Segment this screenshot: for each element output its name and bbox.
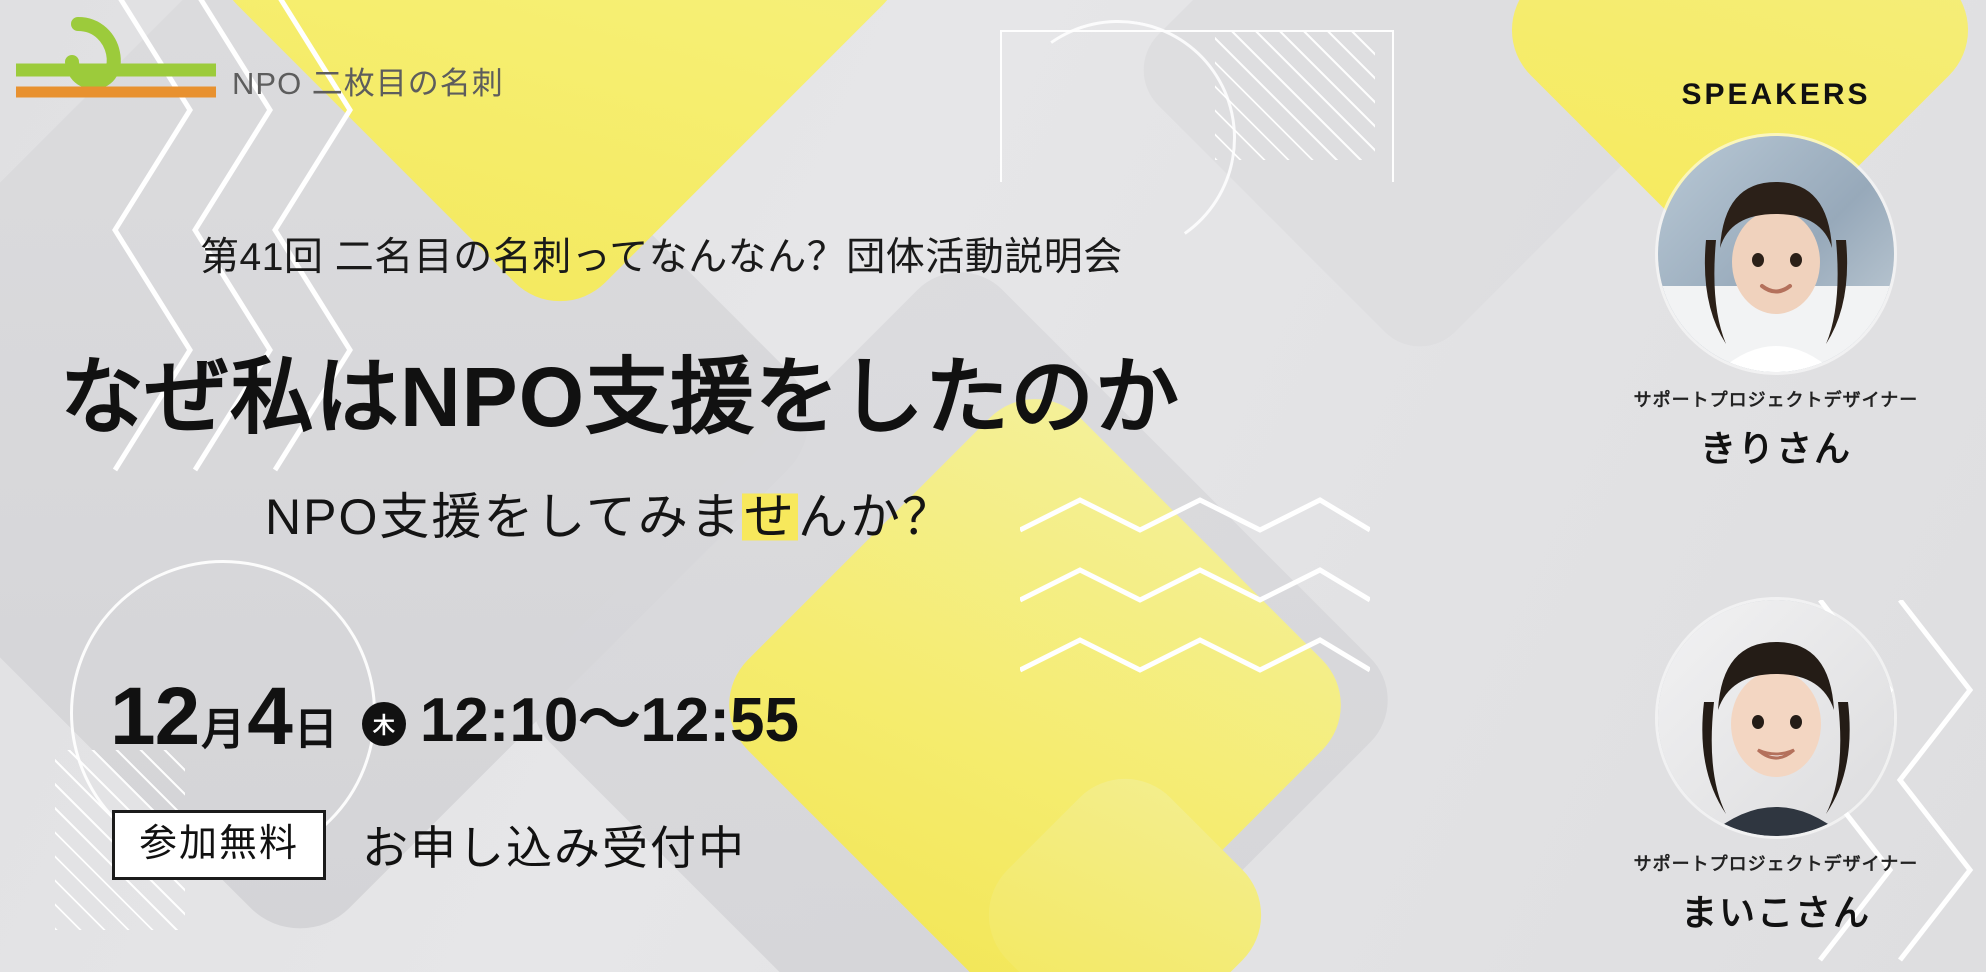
speaker-avatar (1658, 600, 1894, 836)
event-day-number: 4 (247, 678, 292, 756)
free-admission-badge: 参加無料 (112, 810, 326, 880)
tagline-part-2: んか？ (798, 489, 954, 545)
cta-row: 参加無料 お申し込み受付中 (112, 810, 746, 880)
event-banner: NPO 二枚目の名刺 第41回 二名目の名刺ってなんなん？団体活動説明会 なぜ私… (0, 0, 1986, 972)
npo-logo (8, 14, 218, 100)
npo-wave-logo-icon (8, 14, 218, 100)
zigzag-lines-center (1020, 490, 1370, 710)
speakers-panel: SPEAKERS (1566, 0, 1986, 972)
event-month-number: 12 (110, 678, 199, 756)
brand-name: NPO 二枚目の名刺 (232, 58, 504, 103)
speaker-role: サポートプロジェクトデザイナー (1566, 386, 1986, 412)
tagline: NPO支援をしてみませんか？ (265, 477, 954, 549)
speaker-portrait (1658, 136, 1894, 372)
event-time: 12:10〜12:55 (420, 690, 799, 752)
speaker-name: まいこさん (1566, 884, 1986, 936)
speaker-card: サポートプロジェクトデザイナー まいこさん (1566, 600, 1986, 936)
tagline-highlight: せ (742, 489, 798, 545)
series-title: 第41回 二名目の名刺ってなんなん？団体活動説明会 (200, 226, 1123, 282)
registration-status: お申し込み受付中 (362, 812, 746, 878)
page-title: なぜ私はNPO支援をしたのか (60, 330, 1180, 451)
speaker-portrait (1658, 600, 1894, 836)
speaker-name: きりさん (1566, 420, 1986, 472)
event-day-unit: 日 (294, 708, 338, 752)
event-month-unit: 月 (201, 708, 245, 752)
event-weekday-badge: 木 (362, 702, 406, 746)
tagline-part-1: NPO支援をしてみま (265, 489, 742, 545)
event-datetime: 12 月 4 日 木 12:10〜12:55 (110, 678, 799, 756)
speaker-role: サポートプロジェクトデザイナー (1566, 850, 1986, 876)
speakers-heading: SPEAKERS (1566, 78, 1986, 112)
speaker-avatar (1658, 136, 1894, 372)
hatched-square-decoration (1215, 30, 1375, 160)
speaker-card: サポートプロジェクトデザイナー きりさん (1566, 136, 1986, 472)
